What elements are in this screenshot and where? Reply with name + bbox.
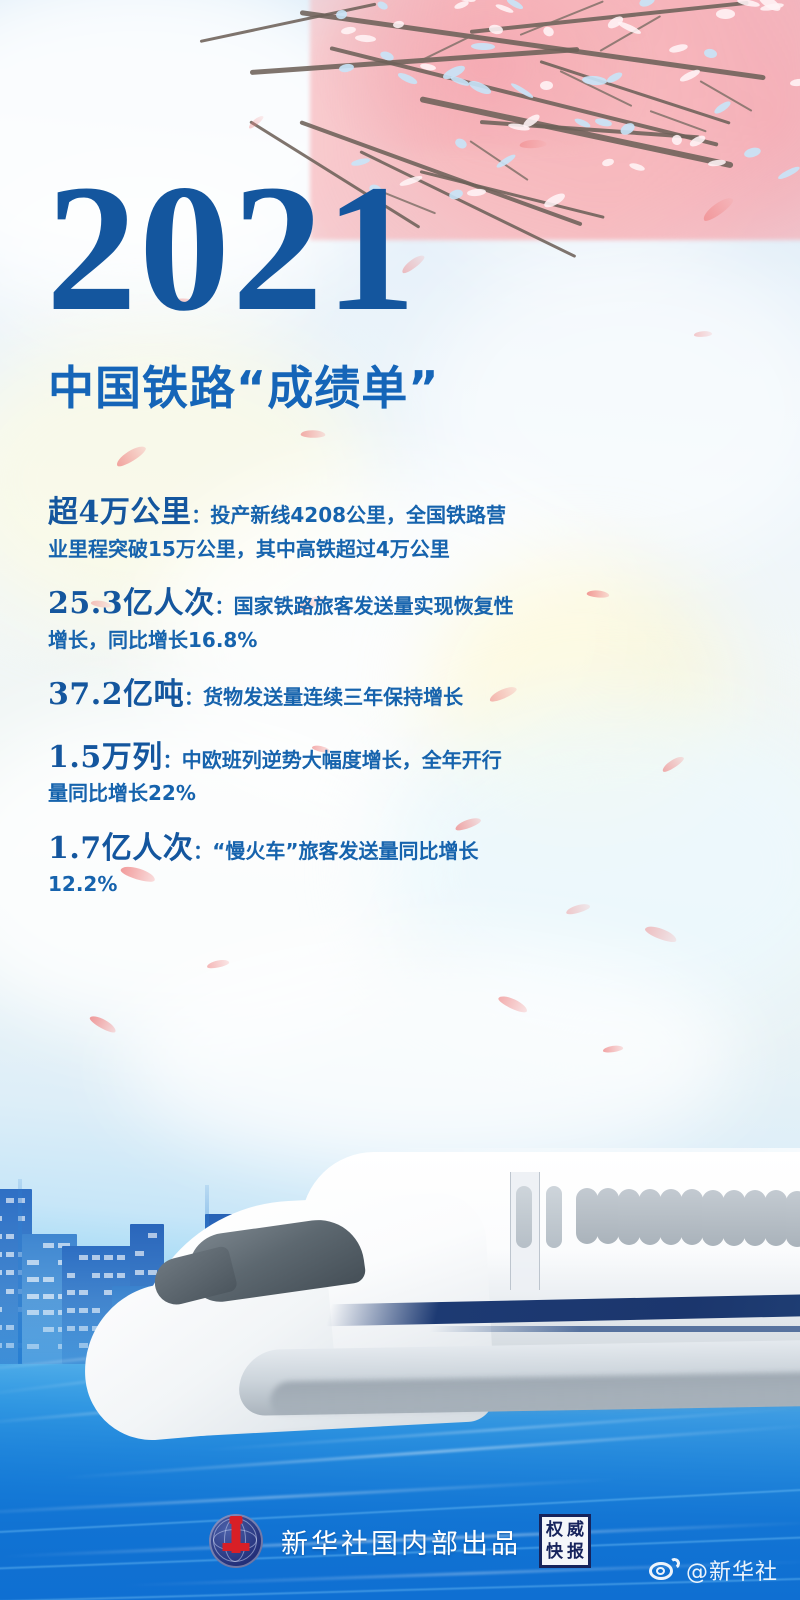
- stat-description: 货物发送量连续三年保持增长: [203, 685, 463, 709]
- seal-char: 快: [546, 1544, 563, 1561]
- weibo-watermark: @新华社: [649, 1554, 778, 1586]
- weibo-icon: [649, 1559, 679, 1581]
- stat-separator: ：: [215, 596, 234, 618]
- seal-char: 权: [546, 1522, 563, 1539]
- seal-char: 报: [567, 1544, 584, 1561]
- page-subtitle: 中国铁路“成绩单”: [48, 352, 439, 418]
- xinhua-logo-icon: [209, 1514, 263, 1568]
- stat-item: 25.3亿人次：国家铁路旅客发送量实现恢复性增长，同比增长16.8%: [48, 583, 518, 654]
- stat-key: 1.7亿人次: [48, 831, 193, 866]
- stat-key: 超4万公里: [48, 495, 191, 530]
- stat-key: 37.2亿吨: [48, 677, 184, 712]
- stat-key: 25.3亿人次: [48, 586, 215, 621]
- stat-key: 1.5万列: [48, 740, 163, 775]
- stat-separator: ：: [191, 505, 210, 527]
- poster-canvas: 2021 中国铁路“成绩单” 超4万公里：投产新线4208公里，全国铁路营业里程…: [0, 0, 800, 1600]
- page-title-year: 2021: [46, 158, 418, 340]
- weibo-handle: @新华社: [686, 1554, 778, 1586]
- stat-separator: ：: [184, 687, 203, 709]
- stat-item: 超4万公里：投产新线4208公里，全国铁路营业里程突破15万公里，其中高铁超过4…: [48, 492, 518, 563]
- stat-separator: ：: [193, 841, 212, 863]
- stat-item: 1.7亿人次：“慢火车”旅客发送量同比增长12.2%: [48, 828, 518, 899]
- seal-char: 威: [567, 1522, 584, 1539]
- stat-item: 1.5万列：中欧班列逆势大幅度增长，全年开行量同比增长22%: [48, 737, 518, 808]
- high-speed-train-illustration: [180, 1130, 800, 1490]
- stat-item: 37.2亿吨：货物发送量连续三年保持增长: [48, 674, 518, 717]
- stat-list: 超4万公里：投产新线4208公里，全国铁路营业里程突破15万公里，其中高铁超过4…: [48, 492, 518, 919]
- stat-separator: ：: [163, 750, 182, 772]
- authority-seal-stamp: 权 威 快 报: [539, 1514, 591, 1568]
- footer-credit-text: 新华社国内部出品: [281, 1522, 521, 1561]
